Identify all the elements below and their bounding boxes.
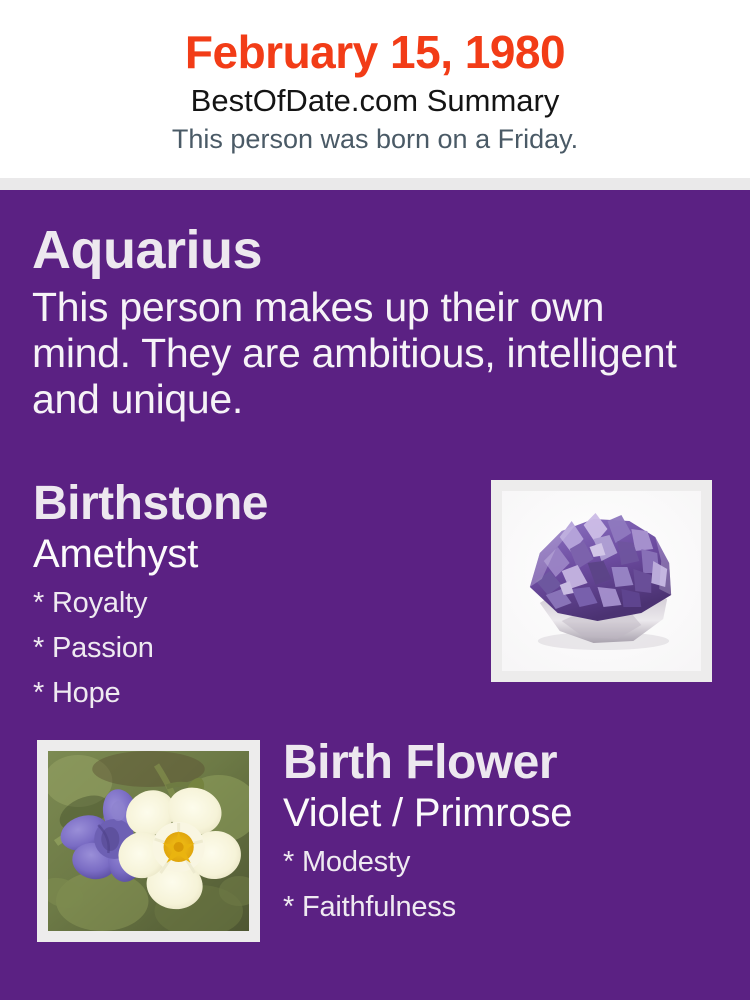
birth-flower-photo: [48, 751, 249, 931]
header-divider: [0, 178, 750, 190]
amethyst-crystal-icon: [502, 491, 701, 671]
birth-flower-name: Violet / Primrose: [283, 790, 723, 836]
summary-card: February 15, 1980 BestOfDate.com Summary…: [0, 0, 750, 1000]
birthstone-heading: Birthstone: [33, 477, 463, 531]
birthstone-name: Amethyst: [33, 531, 463, 577]
birthstone-section: Birthstone Amethyst * Royalty * Passion …: [33, 477, 463, 716]
list-item: * Modesty: [283, 840, 723, 885]
card-header: February 15, 1980 BestOfDate.com Summary…: [0, 0, 750, 178]
zodiac-sign-title: Aquarius: [32, 220, 692, 280]
birth-flower-section: Birth Flower Violet / Primrose * Modesty…: [283, 736, 723, 930]
birthstone-photo: [502, 491, 701, 671]
page-title-date: February 15, 1980: [0, 0, 750, 78]
list-item: * Passion: [33, 626, 463, 671]
birth-flower-trait-list: * Modesty * Faithfulness: [283, 836, 723, 930]
birthstone-trait-list: * Royalty * Passion * Hope: [33, 577, 463, 716]
site-summary-label: BestOfDate.com Summary: [0, 78, 750, 120]
birth-flower-heading: Birth Flower: [283, 736, 723, 790]
violet-and-primrose-icon: [48, 751, 249, 931]
list-item: * Hope: [33, 671, 463, 716]
birth-day-note: This person was born on a Friday.: [0, 120, 750, 156]
zodiac-section: Aquarius This person makes up their own …: [32, 220, 692, 422]
birthstone-image-frame: [491, 480, 712, 682]
list-item: * Faithfulness: [283, 885, 723, 930]
zodiac-description: This person makes up their own mind. The…: [32, 280, 692, 422]
list-item: * Royalty: [33, 581, 463, 626]
birth-flower-image-frame: [37, 740, 260, 942]
